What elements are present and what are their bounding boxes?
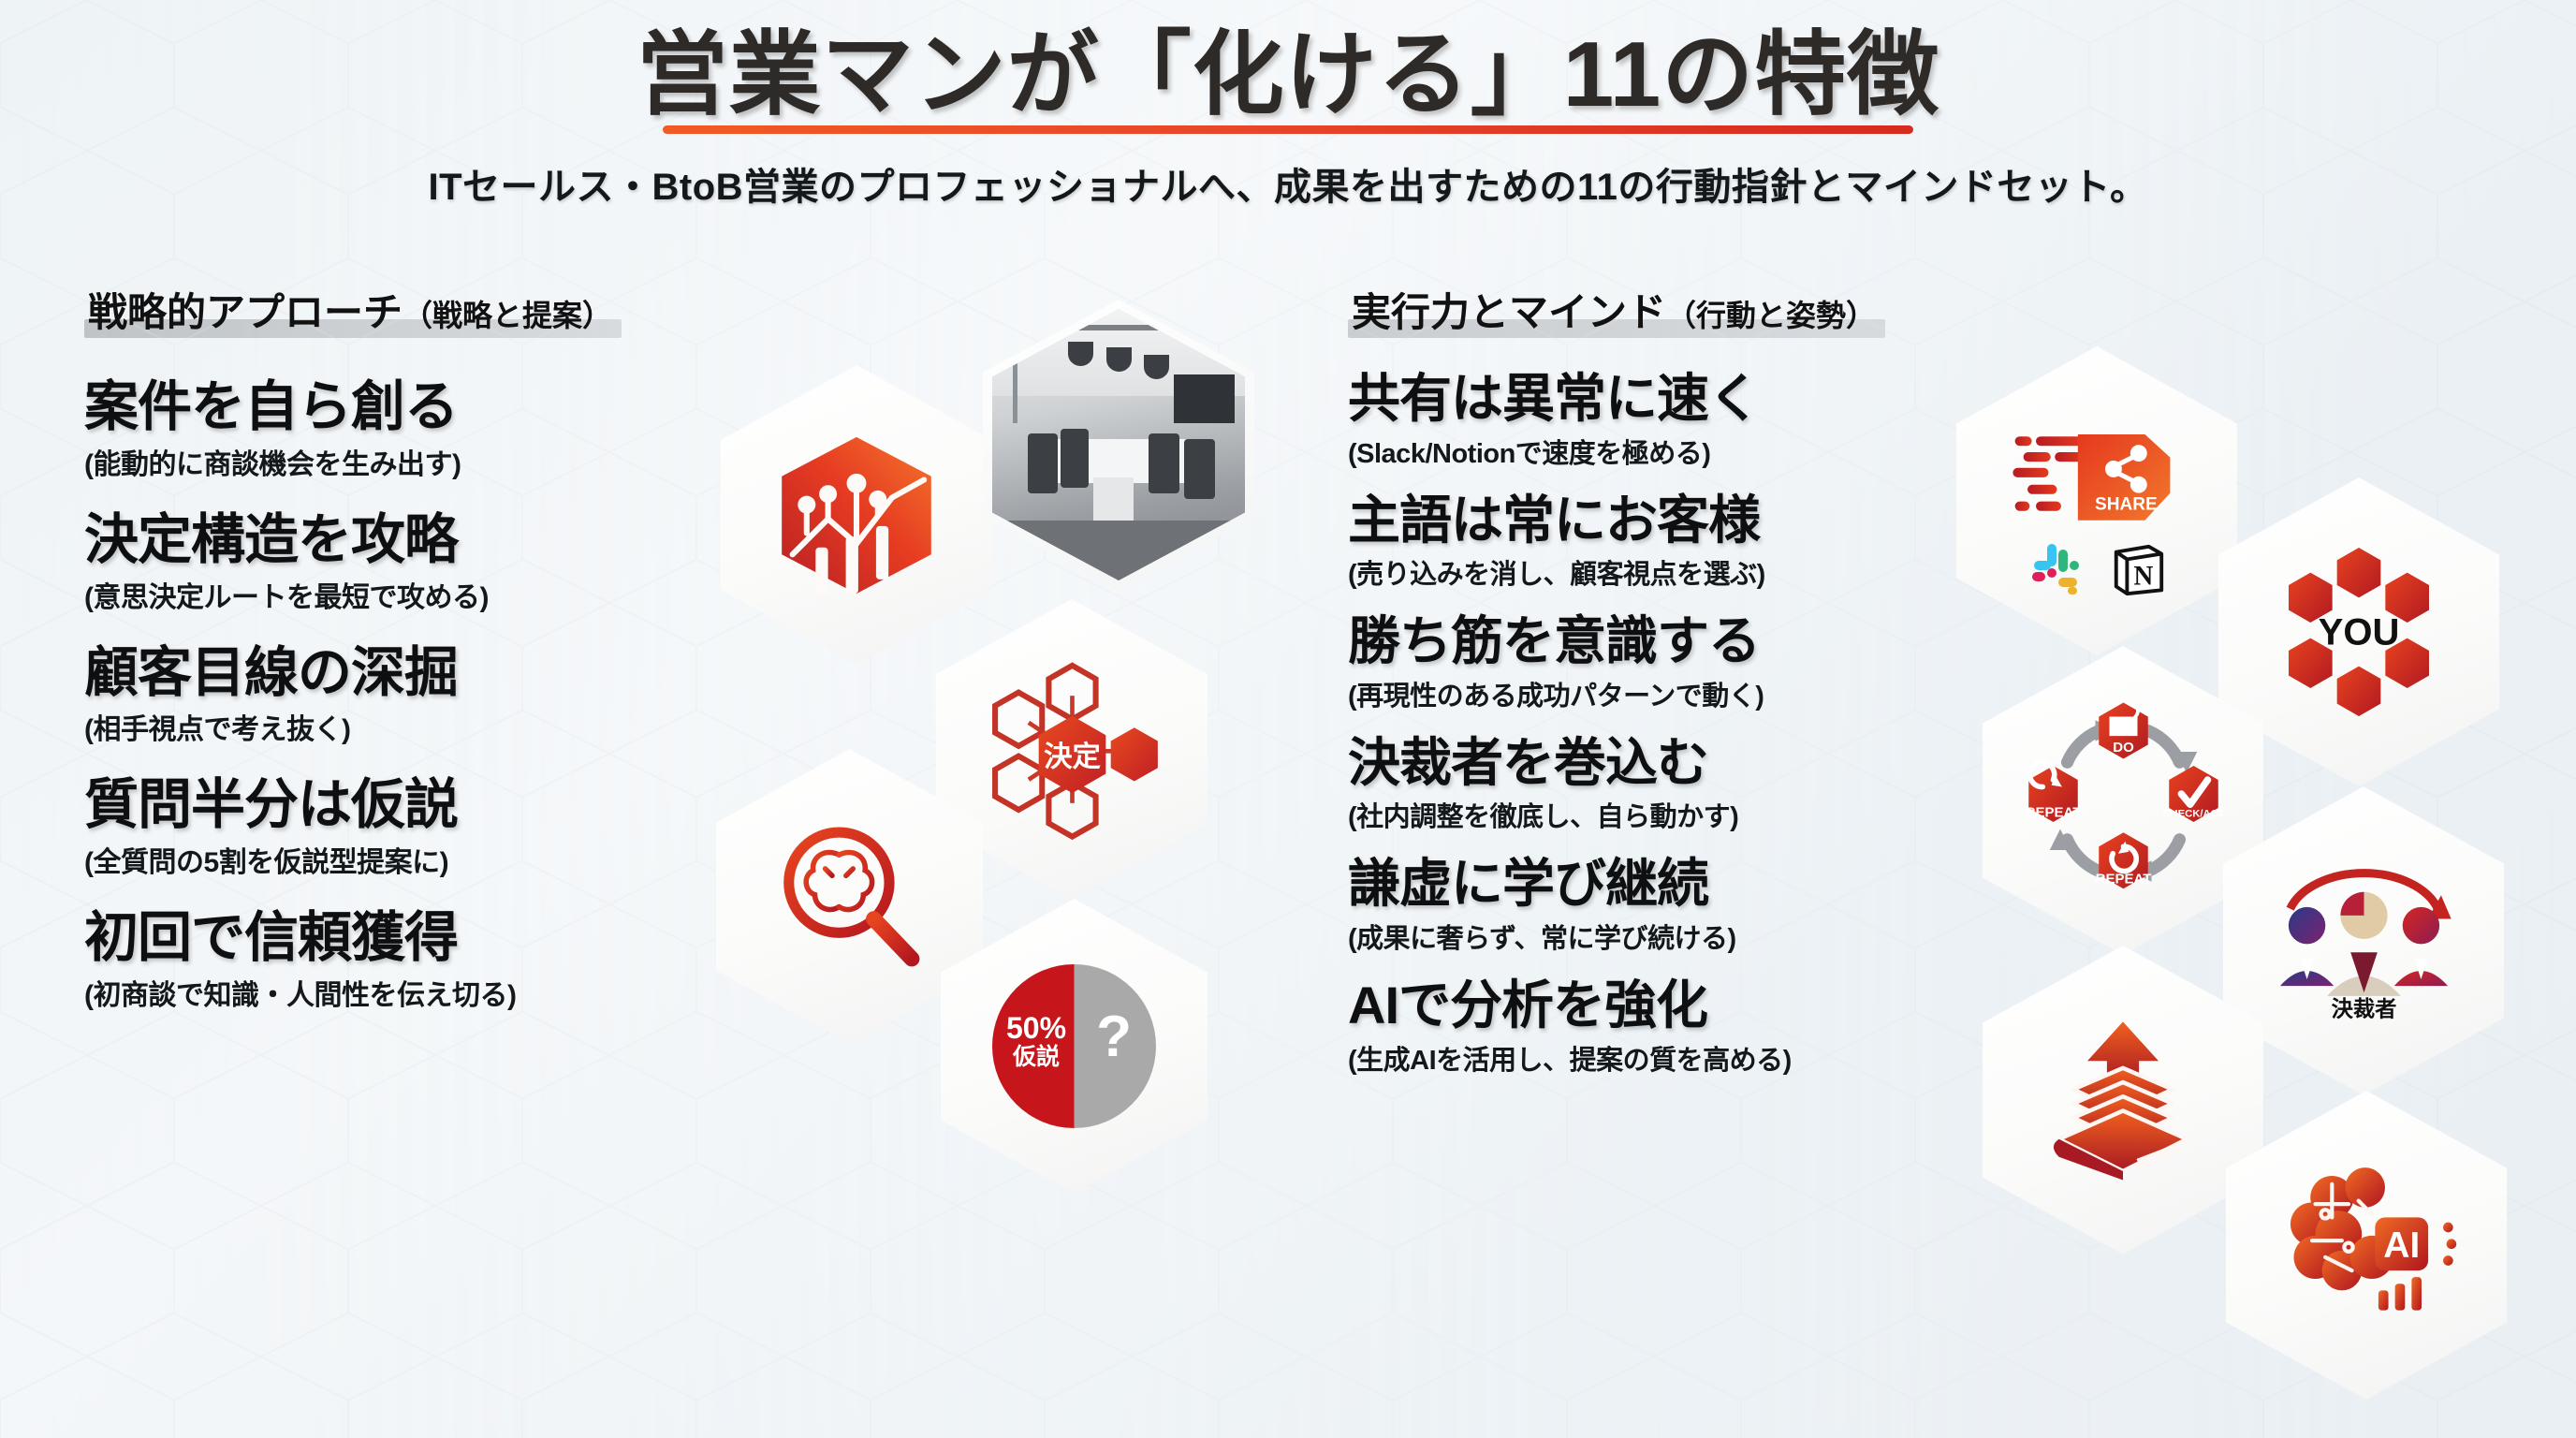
list-item: 案件を自ら創る (能動的に商談機会を生み出す) (84, 377, 665, 482)
list-item: 顧客目線の深掘 (相手視点で考え抜く) (84, 643, 665, 748)
left-section-header: 戦略的アプローチ（戦略と提案） (84, 281, 616, 342)
hex-tile-share: SHARE N (1956, 346, 2237, 655)
left-section-title: 戦略的アプローチ (88, 290, 402, 334)
share-label: SHARE (2095, 495, 2158, 515)
list-item: 初回で信頼獲得 (初商談で知識・人間性を伝え切る) (84, 908, 665, 1013)
you-label: YOU (2319, 611, 2400, 653)
pdca-step-check: CHECK/ACT (2162, 808, 2224, 819)
item-title: 初回で信頼獲得 (84, 908, 665, 968)
hypothesis-pie-icon: 50% 仮説 ? (992, 964, 1156, 1128)
pdca-cycle-icon: DO CHECK/ACT REPEAT REPEAT (2018, 696, 2229, 906)
page-title-text: 営業マンが「化ける」11の特徴 (637, 22, 1940, 125)
pdca-step-do: DO (2113, 740, 2134, 756)
pie-slice-unknown-label: ? (1081, 1004, 1147, 1070)
hex-tile-meeting-room (983, 300, 1254, 590)
item-subtitle: (意思決定ルートを最短で攻める) (84, 574, 665, 615)
pie-percent: 50% (1000, 1013, 1073, 1045)
item-subtitle: (全質問の5割を仮説型提案に) (84, 839, 665, 880)
pie-slice-hypothesis-label: 50% 仮説 (1000, 1013, 1073, 1069)
header: 営業マンが「化ける」11の特徴 ITセールス・BtoB営業のプロフェッショナルへ… (0, 0, 2576, 211)
item-title: 決定構造を攻略 (84, 510, 665, 570)
share-speed-icon: SHARE (2012, 426, 2181, 531)
item-title: 主語は常にお客様 (1348, 492, 1947, 550)
right-section-subtitle: （行動と姿勢） (1666, 299, 1876, 332)
stakeholders-label: 決裁者 (2331, 996, 2396, 1020)
list-item: 質問半分は仮説 (全質問の5割を仮説型提案に) (84, 775, 665, 880)
decision-network-icon: 決定 (972, 649, 1173, 850)
item-title: 質問半分は仮説 (84, 775, 665, 835)
item-subtitle: (成果に奢らず、常に学び続ける) (1348, 917, 1947, 956)
left-column: 戦略的アプローチ（戦略と提案） 案件を自ら創る (能動的に商談機会を生み出す) … (84, 281, 665, 1013)
growth-network-cube-icon (768, 424, 945, 607)
pdca-step-repeat-1: REPEAT (2095, 871, 2151, 887)
item-subtitle: (社内調整を徹底し、自ら動かす) (1348, 795, 1947, 834)
title-underline (663, 125, 1914, 134)
pdca-step-repeat-2: REPEAT (2025, 804, 2081, 820)
books-growth-icon (2034, 1011, 2212, 1189)
notion-logo: N (2109, 541, 2167, 599)
hex-tile-ai-brain: AI (2226, 1091, 2507, 1400)
item-subtitle: (相手視点で考え抜く) (84, 706, 665, 747)
item-subtitle: (生成AIを活用し、提案の質を高める) (1348, 1038, 1947, 1078)
list-item: AIで分析を強化 (生成AIを活用し、提案の質を高める) (1348, 976, 1947, 1078)
svg-text:N: N (2133, 562, 2153, 592)
pie-percent-sub: 仮説 (1000, 1045, 1073, 1069)
item-title: 勝ち筋を意識する (1348, 612, 1947, 670)
list-item: 謙虚に学び継続 (成果に奢らず、常に学び続ける) (1348, 855, 1947, 956)
list-item: 勝ち筋を意識する (再現性のある成功パターンで動く) (1348, 612, 1947, 713)
right-section-title: 実行力とマインド (1352, 290, 1666, 334)
item-title: 顧客目線の深掘 (84, 643, 665, 703)
stakeholders-icon: 決裁者 (2263, 842, 2465, 1020)
item-title: 共有は異常に速く (1348, 370, 1947, 428)
list-item: 決裁者を巻込む (社内調整を徹底し、自ら動かす) (1348, 734, 1947, 835)
hex-tile-stakeholders: 決裁者 (2223, 786, 2504, 1095)
slack-logo (2027, 540, 2086, 600)
brain-magnifier-icon (763, 810, 936, 983)
ai-brain-icon: AI (2276, 1154, 2458, 1337)
item-title: 謙虚に学び継続 (1348, 855, 1947, 913)
item-subtitle: (Slack/Notionで速度を極める) (1348, 432, 1947, 471)
meeting-room-photo (992, 309, 1245, 580)
left-section-subtitle: （戦略と提案） (402, 299, 612, 332)
page-subtitle: ITセールス・BtoB営業のプロフェッショナルへ、成果を出すための11の行動指針… (0, 156, 2576, 211)
list-item: 共有は異常に速く (Slack/Notionで速度を極める) (1348, 370, 1947, 471)
page-title: 営業マンが「化ける」11の特徴 (637, 26, 1940, 123)
decision-network-label: 決定 (1044, 741, 1101, 772)
item-title: 案件を自ら創る (84, 377, 665, 437)
right-column: 実行力とマインド（行動と姿勢） 共有は異常に速く (Slack/Notionで速… (1348, 281, 1947, 1078)
item-title: AIで分析を強化 (1348, 976, 1947, 1034)
item-subtitle: (再現性のある成功パターンで動く) (1348, 674, 1947, 713)
hex-tile-books-growth (1983, 946, 2263, 1255)
item-title: 決裁者を巻込む (1348, 734, 1947, 792)
ai-label: AI (2383, 1225, 2420, 1265)
item-subtitle: (能動的に商談機会を生み出す) (84, 441, 665, 482)
item-subtitle: (初商談で知識・人間性を伝え切る) (84, 972, 665, 1013)
item-subtitle: (売り込みを消し、顧客視点を選ぶ) (1348, 552, 1947, 592)
right-section-header: 実行力とマインド（行動と姿勢） (1348, 281, 1880, 342)
you-hexring-icon: YOU (2265, 538, 2452, 726)
list-item: 決定構造を攻略 (意思決定ルートを最短で攻める) (84, 510, 665, 615)
list-item: 主語は常にお客様 (売り込みを消し、顧客視点を選ぶ) (1348, 492, 1947, 593)
hex-tile-growth-network (721, 365, 992, 665)
